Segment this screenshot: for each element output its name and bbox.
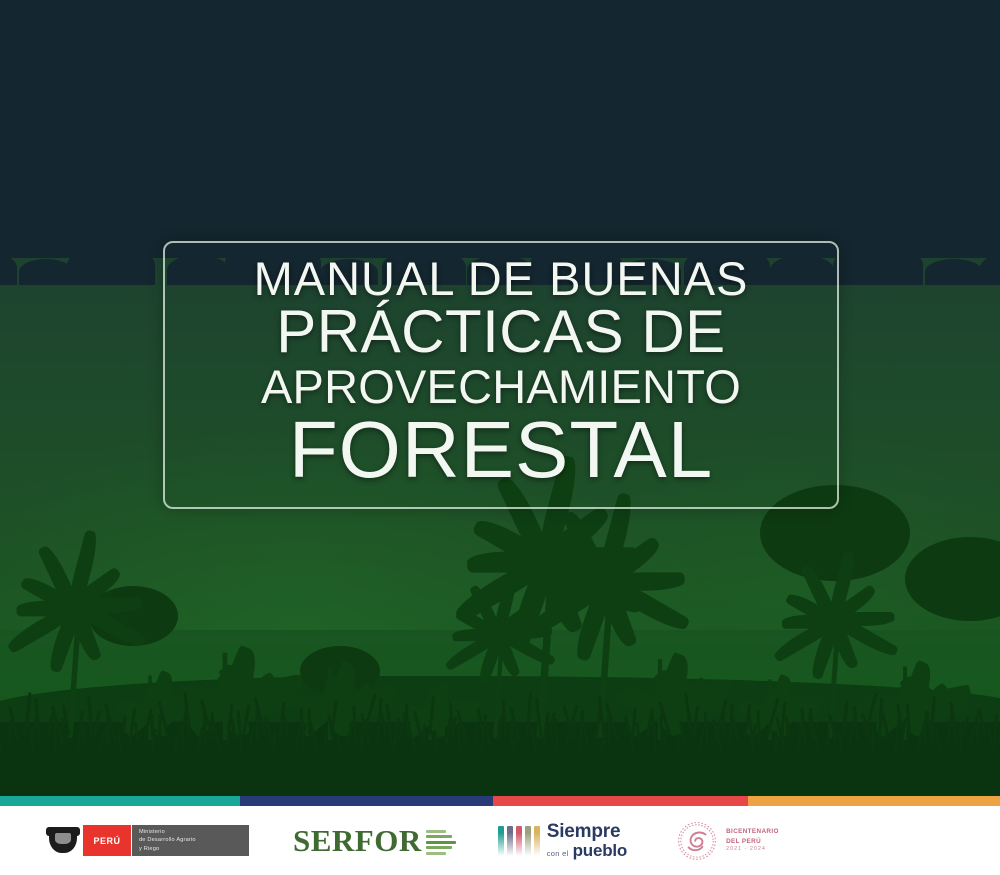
siempre-top-label: Siempre bbox=[547, 822, 627, 841]
serfor-leaf-icon bbox=[426, 827, 456, 855]
foreground-jungle bbox=[0, 466, 1000, 796]
logo-siempre-con-el-pueblo: Siempre con el pueblo bbox=[456, 806, 627, 875]
grass-blade bbox=[924, 724, 927, 745]
ministry-line-3: y Riego bbox=[139, 845, 249, 853]
grass-blade bbox=[722, 712, 725, 735]
logo-serfor: SERFOR bbox=[249, 806, 456, 875]
serfor-wordmark: SERFOR bbox=[293, 823, 422, 859]
title-line-2: PRÁCTICAS DE bbox=[276, 303, 725, 362]
ministry-line-2: de Desarrollo Agrario bbox=[139, 836, 249, 844]
peru-brand-label: PERÚ bbox=[83, 825, 131, 856]
logo-minagri: PERÚ Ministerio de Desarrollo Agrario y … bbox=[0, 806, 249, 875]
logo-bicentenario: BICENTENARIO DEL PERÚ 2021 - 2024 bbox=[627, 806, 779, 875]
grass-blade bbox=[510, 720, 513, 745]
tree-crown bbox=[905, 537, 1000, 621]
grass-blade bbox=[360, 726, 363, 750]
siempre-small-label: con el bbox=[547, 850, 569, 858]
title-line-1: MANUAL DE BUENAS bbox=[254, 256, 749, 302]
grass-blade bbox=[572, 718, 575, 740]
title-frame: MANUAL DE BUENAS PRÁCTICAS DE APROVECHAM… bbox=[163, 241, 839, 509]
color-band-segment-teal bbox=[0, 796, 240, 806]
bicentenario-line-2: DEL PERÚ bbox=[726, 837, 779, 846]
bicentenario-label: BICENTENARIO DEL PERÚ 2021 - 2024 bbox=[726, 827, 779, 853]
bicentenario-line-1: BICENTENARIO bbox=[726, 827, 779, 836]
siempre-bars-icon bbox=[498, 826, 540, 856]
footer-logo-bar: PERÚ Ministerio de Desarrollo Agrario y … bbox=[0, 806, 1000, 875]
bicentenario-seal-icon bbox=[677, 821, 717, 861]
grass-blade bbox=[976, 722, 979, 740]
escudo-nacional-icon bbox=[46, 825, 80, 856]
title-line-3: APROVECHAMIENTO bbox=[261, 364, 741, 410]
siempre-pueblo-label: pueblo bbox=[573, 842, 628, 859]
color-band-segment-orange bbox=[748, 796, 1000, 806]
color-band-segment-red bbox=[493, 796, 748, 806]
bicentenario-line-3: 2021 - 2024 bbox=[726, 846, 779, 854]
color-band-segment-navy bbox=[240, 796, 493, 806]
grass-blade bbox=[774, 730, 777, 750]
book-cover: MANUAL DE BUENAS PRÁCTICAS DE APROVECHAM… bbox=[0, 0, 1000, 875]
ministry-label: Ministerio de Desarrollo Agrario y Riego bbox=[131, 825, 249, 856]
title-line-4: FORESTAL bbox=[289, 411, 713, 489]
grass-blade bbox=[872, 726, 875, 750]
ministry-line-1: Ministerio bbox=[139, 828, 249, 836]
color-band bbox=[0, 796, 1000, 806]
grass-blade bbox=[826, 728, 830, 745]
